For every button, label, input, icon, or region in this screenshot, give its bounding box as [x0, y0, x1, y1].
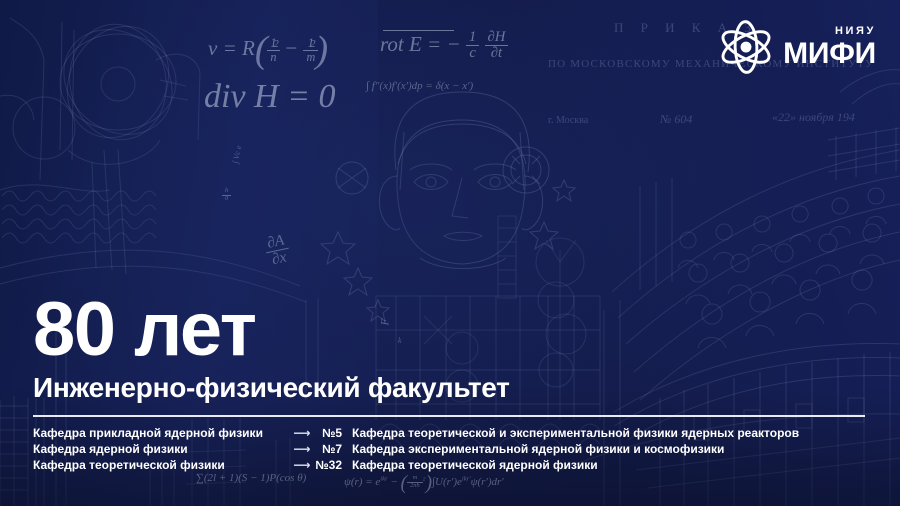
atom-icon: [717, 18, 775, 76]
anniversary-banner: П Р И К А З ПО МОСКОВСКОМУ МЕХАНИЧЕСКОМУ…: [0, 0, 900, 506]
window-grid-illustration: [828, 70, 900, 180]
rot-numerator-dh: ∂H: [485, 30, 509, 46]
bottom-formula-sum: ∑(2l + 1)(S − 1)P(cos θ): [196, 472, 306, 484]
department-number: №5: [315, 426, 349, 440]
psi-integral-text: ∫U(r′)e: [432, 476, 462, 488]
document-date-text: «22» ноября 194: [772, 110, 855, 125]
psi-denominator: 2πħ: [407, 483, 423, 490]
department-number: №32: [315, 458, 349, 472]
left-numerator-h: h: [222, 188, 231, 196]
logo-sub-text: НИЯУ: [835, 26, 876, 37]
rydberg-lhs-text: ν = R: [208, 36, 255, 60]
left-denominator-zero: 0: [222, 196, 231, 203]
psi-tail-text: ψ(r′)dr′: [471, 476, 504, 488]
integral-formula: ∫ f″(x)f′(x′)dp = δ(x − x′): [366, 80, 473, 92]
da-denominator: ∂x: [266, 249, 292, 270]
bottom-formula-psi: ψ(r) = eikr − (m2πħ2)∫U(r′)eikr′ψ(r′)dr′: [344, 472, 504, 495]
rydberg-numerator-n: 1: [267, 37, 279, 51]
rydberg-denominator-m: m: [303, 51, 318, 64]
da-numerator: ∂A: [263, 232, 289, 254]
department-number: №7: [315, 442, 349, 456]
maxwell-div-formula: div H = 0: [204, 78, 336, 116]
left-formula-da: ∂A∂x: [263, 232, 292, 269]
page-subtitle: Инженерно-физический факультет: [33, 372, 871, 404]
departments-list: Кафедра прикладной ядерной физики ⟶ №5 К…: [33, 426, 871, 472]
rot-fraction-c: 1c: [466, 30, 479, 62]
left-formula-vc: ∫ Vc e: [231, 145, 244, 165]
mephi-logo[interactable]: НИЯУ МИФИ: [717, 18, 876, 76]
arrow-right-icon: ⟶: [289, 442, 315, 456]
department-description: Кафедра теоретической и экспериментально…: [349, 426, 871, 440]
atom-line-drawing: [0, 8, 200, 191]
left-fraction: h0: [222, 188, 231, 202]
headline-block: 80 лет Инженерно-физический факультет Ка…: [33, 294, 871, 472]
handwritten-symbol-rows: [2, 150, 156, 274]
rot-fraction-dh: ∂H∂t: [485, 30, 509, 62]
da-fraction: ∂A∂x: [263, 232, 292, 269]
rot-denominator-c: c: [466, 46, 479, 61]
maxwell-rot-formula: rot E = − 1c ∂H∂t: [380, 30, 508, 62]
logo-main-text: МИФИ: [783, 39, 876, 69]
rot-denominator-dt: ∂t: [485, 46, 509, 61]
rydberg-numerator-m: 1: [303, 37, 318, 51]
divider-rule: [33, 415, 865, 417]
decorative-rings: [336, 147, 549, 194]
department-name: Кафедра ядерной физики: [33, 442, 289, 456]
rydberg-fraction-n: 1n: [267, 37, 279, 64]
face-illustration: [379, 92, 542, 269]
department-description: Кафедра теоретической ядерной физики: [349, 458, 871, 472]
department-name: Кафедра прикладной ядерной физики: [33, 426, 289, 440]
department-name: Кафедра теоретической физики: [33, 458, 289, 472]
rydberg-fraction-m: 1m: [303, 37, 318, 64]
page-title: 80 лет: [33, 294, 871, 366]
psi-fraction: m2πħ: [407, 475, 423, 489]
department-description: Кафедра экспериментальной ядерной физики…: [349, 442, 871, 456]
document-number-text: № 604: [660, 112, 692, 127]
rot-lhs-text: rot E = −: [380, 32, 461, 56]
rydberg-formula: ν = R(1n2 − 1m2): [208, 28, 328, 72]
arrow-right-icon: ⟶: [289, 426, 315, 440]
left-formula-fraction: h0: [222, 188, 231, 202]
document-city-text: г. Москва: [548, 115, 588, 126]
psi-lhs-text: ψ(r) = e: [344, 476, 380, 488]
rydberg-denominator-n: n: [267, 51, 279, 64]
rot-numerator-one: 1: [466, 30, 479, 46]
arrow-right-icon: ⟶: [289, 458, 315, 472]
psi-numerator-m: m: [407, 475, 423, 483]
logo-wordmark: НИЯУ МИФИ: [783, 26, 876, 69]
